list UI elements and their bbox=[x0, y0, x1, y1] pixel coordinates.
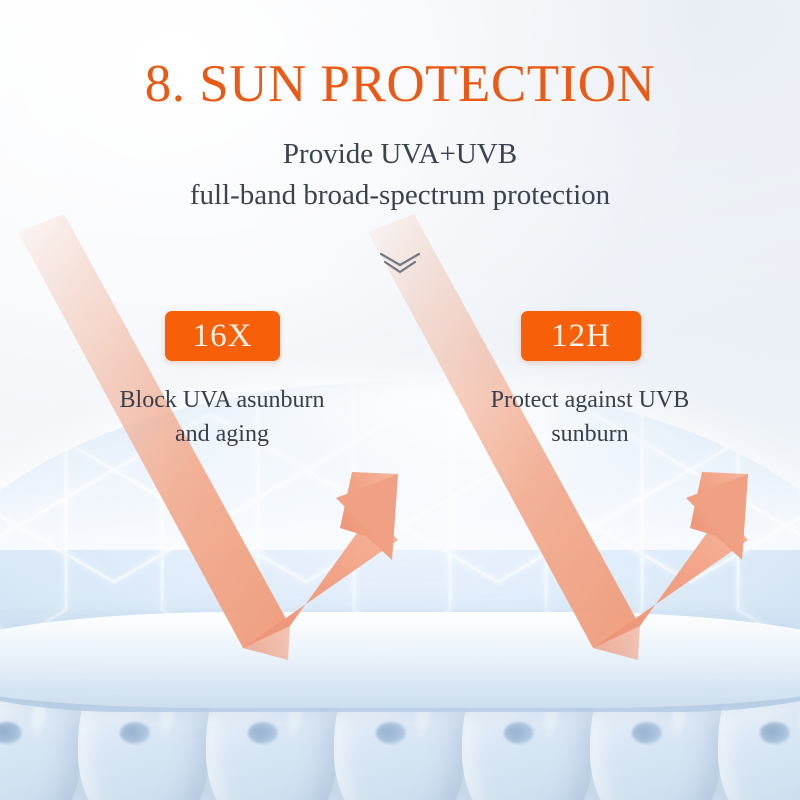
double-chevron-down-icon bbox=[377, 250, 423, 276]
subtitle-line-1: Provide UVA+UVB bbox=[0, 134, 800, 175]
content-layer: 8. SUN PROTECTION Provide UVA+UVB full-b… bbox=[0, 0, 800, 800]
caption-uva-line-2: and aging bbox=[57, 417, 387, 451]
page-subtitle: Provide UVA+UVB full-band broad-spectrum… bbox=[0, 134, 800, 216]
infographic-canvas: 8. SUN PROTECTION Provide UVA+UVB full-b… bbox=[0, 0, 800, 800]
caption-uva: Block UVA asunburn and aging bbox=[57, 383, 387, 451]
caption-uvb-line-2: sunburn bbox=[425, 417, 755, 451]
badge-uva-16x[interactable]: 16X bbox=[165, 311, 280, 361]
subtitle-line-2: full-band broad-spectrum protection bbox=[0, 175, 800, 216]
caption-uva-line-1: Block UVA asunburn bbox=[57, 383, 387, 417]
badge-uvb-12h[interactable]: 12H bbox=[521, 311, 641, 361]
section-divider bbox=[0, 248, 800, 278]
benefit-badges: 16X 12H bbox=[0, 311, 800, 363]
caption-uvb-line-1: Protect against UVB bbox=[425, 383, 755, 417]
caption-uvb: Protect against UVB sunburn bbox=[425, 383, 755, 451]
page-title: 8. SUN PROTECTION bbox=[0, 54, 800, 114]
